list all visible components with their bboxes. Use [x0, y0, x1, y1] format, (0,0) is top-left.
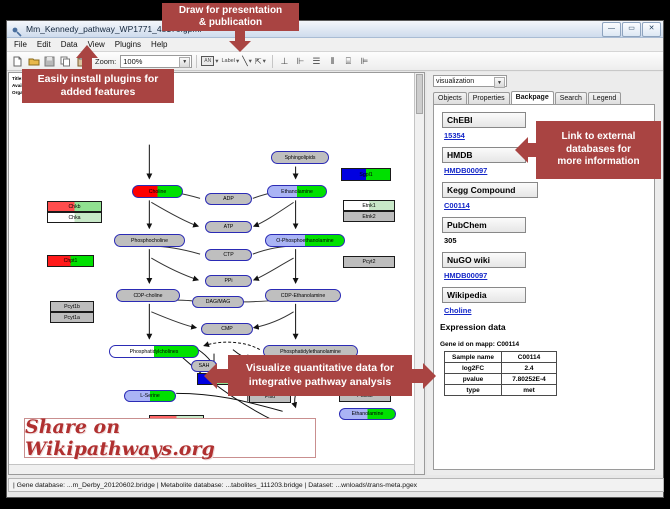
gene-label: Pcyt1b: [64, 304, 80, 310]
pathvisio-icon: [11, 24, 22, 35]
interaction-tool[interactable]: ⇱▾: [255, 57, 266, 66]
gene-label: Etnk2: [362, 214, 375, 220]
gene-etnk2[interactable]: Etnk2: [343, 211, 395, 222]
gene-label: Pcyt1a: [64, 315, 80, 321]
plugins-callout-text: Easily install plugins for added feature…: [38, 73, 159, 99]
minimize-icon[interactable]: —: [602, 22, 621, 37]
expression-data-heading: Expression data: [440, 322, 654, 332]
table-row: pvalue 7.80252E-4: [445, 374, 557, 385]
metabolite-label: ATP: [224, 224, 234, 230]
metabolite-label: Ethanolamine: [281, 189, 313, 195]
gene-pcyt2[interactable]: Pcyt2: [343, 256, 395, 268]
gene-label: Pcyt2: [363, 259, 376, 265]
chevron-down-icon[interactable]: ▼: [494, 77, 505, 88]
expr-val-pvalue: 7.80252E-4: [502, 374, 557, 385]
gene-pcyt1a[interactable]: Pcyt1a: [50, 312, 94, 323]
metabolite-label: CMP: [221, 326, 233, 332]
metabolite-ppi[interactable]: PPi: [205, 275, 252, 287]
metabolite-label: ADP: [223, 196, 234, 202]
label-icon: Label: [221, 58, 234, 64]
gene-sgpl1[interactable]: Sgpl1: [341, 168, 391, 181]
gene-etnk1[interactable]: Etnk1: [343, 200, 395, 211]
quantitative-callout-text: Visualize quantitative data for integrat…: [246, 362, 394, 388]
metabolite-phosphatidylcholines[interactable]: Phosphatidylcholines: [109, 345, 199, 358]
metabolite-label: PPi: [224, 278, 232, 284]
visualization-combo[interactable]: visualization ▼: [433, 75, 507, 87]
gene-label: Chka: [68, 215, 80, 221]
tab-search[interactable]: Search: [555, 92, 587, 104]
canvas-vscrollbar[interactable]: [414, 73, 424, 474]
metabolite-label: Phosphatidylethanolamine: [280, 349, 341, 355]
external-db-callout-text: Link to external databases for more info…: [557, 131, 639, 169]
chevron-down-icon[interactable]: ▼: [179, 57, 190, 68]
align-center-icon[interactable]: ⊥: [277, 54, 292, 69]
table-row: Sample name C00114: [445, 352, 557, 363]
close-icon[interactable]: ✕: [642, 22, 661, 37]
gene-chkb[interactable]: Chkb: [47, 201, 102, 212]
visualization-value: visualization: [436, 78, 474, 85]
metabolite-label: DAG/MAG: [206, 299, 231, 305]
quantitative-callout-arrow-left: [204, 362, 229, 390]
distribute-icon[interactable]: ⦀: [325, 54, 340, 69]
common-height-icon[interactable]: ⊫: [357, 54, 372, 69]
tab-objects[interactable]: Objects: [433, 92, 467, 104]
share-banner: Share on Wikipathways.org: [24, 418, 316, 458]
metabolite-l-serine-left[interactable]: L-Serine: [124, 390, 176, 402]
metabolite-o-phosphoethanolamine[interactable]: O-Phosphoethanolamine: [265, 234, 345, 247]
metabolite-dag-mag[interactable]: DAG/MAG: [192, 296, 244, 308]
metabolite-label: Ethanolamine: [352, 411, 384, 417]
metabolite-label: L-Serine: [140, 393, 160, 399]
metabolite-label: CDP-choline: [133, 293, 162, 299]
draw-callout: Draw for presentation & publication: [162, 3, 299, 31]
datanode-tool[interactable]: AN▾: [201, 56, 218, 66]
metabolite-label: O-Phosphoethanolamine: [276, 238, 333, 244]
share-banner-text: Share on Wikipathways.org: [25, 416, 315, 460]
expression-table: Sample name C00114 log2FC 2.4 pvalue 7.8…: [444, 351, 557, 396]
zoom-value: 100%: [123, 57, 142, 66]
db-value-pubchem: 305: [444, 236, 654, 245]
db-header-nugo: NuGO wiki: [442, 252, 526, 268]
db-link-wikipedia[interactable]: Choline: [444, 306, 654, 315]
title-bar: Mm_Kennedy_pathway_WP1771_45176.gpml — ▭…: [7, 21, 663, 38]
gene-label: Chpt1: [64, 258, 78, 264]
line-tool[interactable]: ╲▾: [242, 56, 252, 67]
align-left-icon[interactable]: ⊩: [293, 54, 308, 69]
db-link-kegg[interactable]: C00114: [444, 201, 654, 210]
metabolite-label: Phosphocholine: [131, 238, 168, 244]
expr-val-sample: C00114: [502, 352, 557, 363]
quantitative-callout-arrow-right: [411, 362, 436, 390]
gene-chka[interactable]: Chka: [47, 212, 102, 223]
new-icon[interactable]: [10, 54, 25, 69]
gene-label: Etnk1: [362, 203, 375, 209]
status-bar: | Gene database: ...m_Derby_20120602.bri…: [8, 478, 664, 492]
quantitative-callout: Visualize quantitative data for integrat…: [228, 355, 412, 396]
panel-tabs: Objects Properties Backpage Search Legen…: [433, 91, 621, 104]
maximize-icon[interactable]: ▭: [622, 22, 641, 37]
plugins-callout-arrow: [74, 45, 100, 71]
gene-pcyt1b[interactable]: Pcyt1b: [50, 301, 94, 312]
window-controls: — ▭ ✕: [602, 22, 661, 37]
plugins-callout: Easily install plugins for added feature…: [22, 69, 174, 103]
zoom-combo[interactable]: 100% ▼: [120, 55, 192, 68]
expr-key-pvalue: pvalue: [445, 374, 502, 385]
metabolite-atp[interactable]: ATP: [205, 221, 252, 233]
gene-id-line: Gene id on mapp: C00114: [440, 341, 654, 348]
gene-label: Sgpl1: [359, 172, 372, 178]
table-row: log2FC 2.4: [445, 363, 557, 374]
tab-backpage[interactable]: Backpage: [511, 91, 554, 104]
expr-val-type: met: [502, 385, 557, 396]
metabolite-ethanolamine-top[interactable]: Ethanolamine: [267, 185, 327, 198]
datanode-icon: AN: [201, 56, 214, 66]
expr-key-type: type: [445, 385, 502, 396]
expr-key-sample: Sample name: [445, 352, 502, 363]
canvas-vscroll-thumb[interactable]: [416, 74, 423, 114]
screenshot-root: Mm_Kennedy_pathway_WP1771_45176.gpml — ▭…: [0, 0, 670, 509]
metabolite-ethanolamine-bottom[interactable]: Ethanolamine: [339, 408, 396, 420]
menu-help[interactable]: Help: [147, 39, 171, 50]
db-header-wikipedia: Wikipedia: [442, 287, 526, 303]
menu-plugins[interactable]: Plugins: [111, 39, 145, 50]
metabolite-phosphocholine[interactable]: Phosphocholine: [114, 234, 185, 247]
menu-bar: File Edit Data View Plugins Help: [7, 38, 663, 52]
status-text: | Gene database: ...m_Derby_20120602.bri…: [13, 482, 417, 489]
db-header-kegg: Kegg Compound: [442, 182, 538, 198]
metabolite-cdp-choline[interactable]: CDP-choline: [116, 289, 180, 302]
metabolite-cmp[interactable]: CMP: [201, 323, 253, 335]
metabolite-sphingolipids[interactable]: Sphingolipids: [271, 151, 329, 164]
draw-callout-arrow: [228, 31, 252, 53]
open-icon[interactable]: [26, 54, 41, 69]
metabolite-label: Choline: [149, 189, 167, 195]
canvas-hscrollbar[interactable]: [9, 464, 424, 474]
align-stack-icon[interactable]: ☰: [309, 54, 324, 69]
metabolite-ctp[interactable]: CTP: [205, 249, 252, 261]
external-db-callout: Link to external databases for more info…: [536, 121, 661, 179]
tab-properties[interactable]: Properties: [468, 92, 510, 104]
copy-icon[interactable]: [58, 54, 73, 69]
db-header-hmdb: HMDB: [442, 147, 526, 163]
metabolite-adp[interactable]: ADP: [205, 193, 252, 205]
table-row: type met: [445, 385, 557, 396]
metabolite-label: CTP: [223, 252, 233, 258]
db-header-chebi: ChEBI: [442, 112, 526, 128]
metabolite-cdp-ethanolamine[interactable]: CDP-Ethanolamine: [265, 289, 341, 302]
pathway-canvas[interactable]: Title: Availa Organi: [8, 72, 425, 475]
db-header-pubchem: PubChem: [442, 217, 526, 233]
db-link-nugo[interactable]: HMDB00097: [444, 271, 654, 280]
metabolite-label: Phosphatidylcholines: [130, 349, 179, 355]
common-width-icon[interactable]: ⌸: [341, 54, 356, 69]
interaction-icon: ⇱: [255, 57, 262, 66]
metabolite-label: CDP-Ethanolamine: [281, 293, 325, 299]
toolbar-separator: [196, 55, 197, 68]
toolbar-separator-2: [272, 55, 273, 68]
draw-callout-text: Draw for presentation & publication: [179, 5, 282, 30]
save-icon[interactable]: [42, 54, 57, 69]
menu-file[interactable]: File: [10, 39, 31, 50]
tab-legend[interactable]: Legend: [588, 92, 621, 104]
gene-label: Chkb: [68, 204, 80, 210]
metabolite-choline[interactable]: Choline: [132, 185, 183, 198]
expr-val-log2fc: 2.4: [502, 363, 557, 374]
metabolite-label: Sphingolipids: [285, 155, 316, 161]
gene-chpt1[interactable]: Chpt1: [47, 255, 94, 267]
menu-edit[interactable]: Edit: [33, 39, 55, 50]
line-icon: ╲: [242, 56, 247, 67]
external-db-callout-arrow: [515, 136, 538, 164]
label-tool[interactable]: Label▾: [221, 57, 239, 65]
expr-key-log2fc: log2FC: [445, 363, 502, 374]
